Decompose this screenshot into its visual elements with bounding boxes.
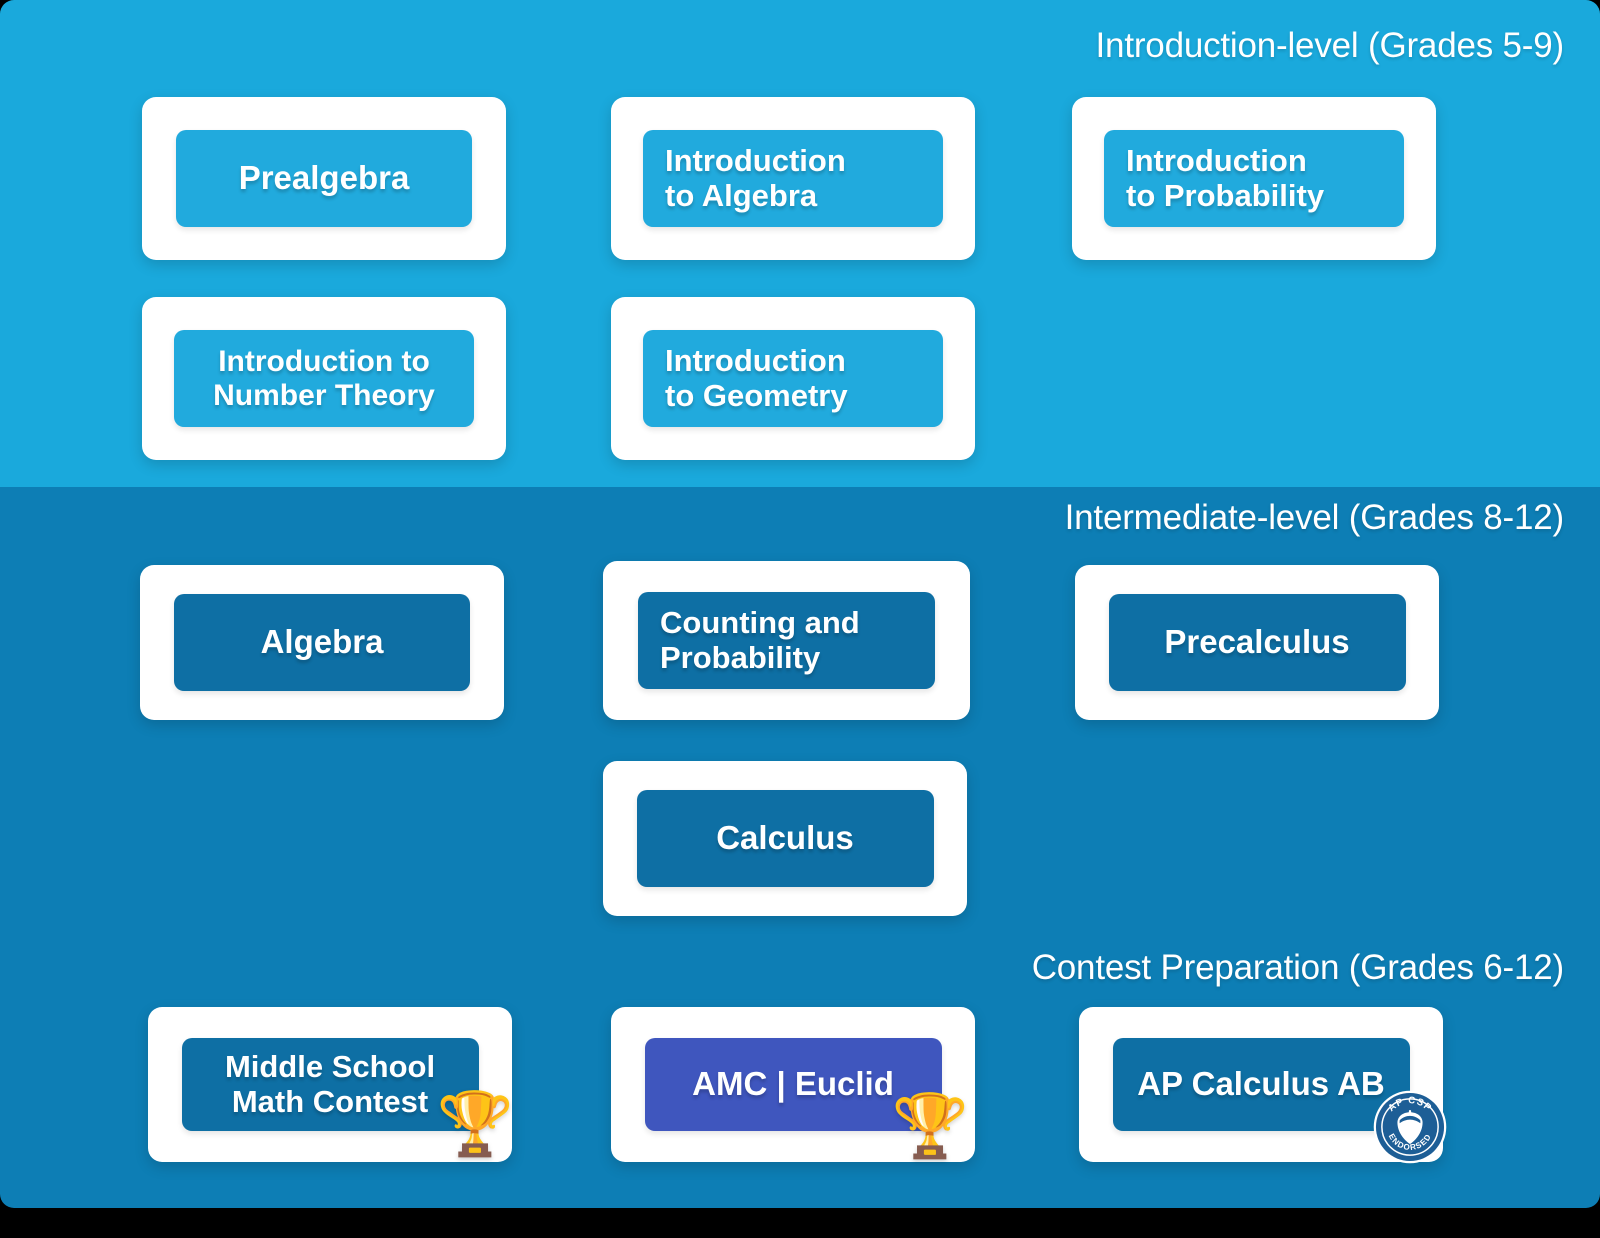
course-label-line2: Probability: [660, 641, 820, 676]
course-label-line1: Introduction: [665, 344, 846, 379]
course-label: AP Calculus AB: [1137, 1066, 1385, 1103]
course-label-line1: Introduction: [665, 144, 846, 179]
course-label: Prealgebra: [239, 160, 410, 197]
course-label-line2: Number Theory: [213, 379, 435, 413]
course-pill-introduction-to-geometry[interactable]: Introduction to Geometry: [643, 330, 943, 427]
course-label-line2: to Algebra: [665, 179, 817, 214]
course-label-line1: Counting and: [660, 606, 860, 641]
course-card-middle-school-math-contest[interactable]: Middle School Math Contest 🏆: [148, 1007, 512, 1162]
course-label: Calculus: [716, 820, 854, 857]
course-label-line2: to Geometry: [665, 379, 848, 414]
course-label-line1: Middle School: [225, 1050, 435, 1085]
course-label-line2: Math Contest: [232, 1085, 428, 1120]
course-pill-ap-calculus-ab[interactable]: AP Calculus AB: [1113, 1038, 1410, 1131]
course-label: Algebra: [261, 624, 384, 661]
course-pill-middle-school-math-contest[interactable]: Middle School Math Contest: [182, 1038, 479, 1131]
course-pill-counting-and-probability[interactable]: Counting and Probability: [638, 592, 935, 689]
course-label-line1: Introduction: [1126, 144, 1307, 179]
course-label-line1: Introduction to: [218, 345, 430, 379]
course-pill-introduction-to-probability[interactable]: Introduction to Probability: [1104, 130, 1404, 227]
introduction-level-heading: Introduction-level (Grades 5-9): [1096, 26, 1564, 66]
course-card-introduction-to-algebra[interactable]: Introduction to Algebra: [611, 97, 975, 260]
course-pill-calculus[interactable]: Calculus: [637, 790, 934, 887]
course-label: Precalculus: [1164, 624, 1349, 661]
course-label: AMC | Euclid: [692, 1066, 894, 1103]
course-card-ap-calculus-ab[interactable]: AP Calculus AB AP CSP ENDORSED: [1079, 1007, 1443, 1162]
course-card-introduction-to-number-theory[interactable]: Introduction to Number Theory: [142, 297, 506, 460]
course-pill-prealgebra[interactable]: Prealgebra: [176, 130, 472, 227]
badge-bottom-text: ENDORSED: [1387, 1132, 1433, 1152]
course-pill-precalculus[interactable]: Precalculus: [1109, 594, 1406, 691]
course-card-amc-euclid[interactable]: AMC | Euclid 🏆: [611, 1007, 975, 1162]
contest-preparation-heading: Contest Preparation (Grades 6-12): [1032, 948, 1564, 988]
course-pill-algebra[interactable]: Algebra: [174, 594, 470, 691]
course-card-prealgebra[interactable]: Prealgebra: [142, 97, 506, 260]
course-pill-amc-euclid[interactable]: AMC | Euclid: [645, 1038, 942, 1131]
course-card-counting-and-probability[interactable]: Counting and Probability: [603, 561, 970, 720]
course-pill-introduction-to-algebra[interactable]: Introduction to Algebra: [643, 130, 943, 227]
svg-text:ENDORSED: ENDORSED: [1387, 1132, 1433, 1152]
course-card-precalculus[interactable]: Precalculus: [1075, 565, 1439, 720]
course-card-calculus[interactable]: Calculus: [603, 761, 967, 916]
intermediate-level-heading: Intermediate-level (Grades 8-12): [1065, 498, 1564, 538]
course-label-line2: to Probability: [1126, 179, 1324, 214]
course-card-introduction-to-probability[interactable]: Introduction to Probability: [1072, 97, 1436, 260]
course-card-introduction-to-geometry[interactable]: Introduction to Geometry: [611, 297, 975, 460]
course-pill-introduction-to-number-theory[interactable]: Introduction to Number Theory: [174, 330, 474, 427]
curriculum-frame: Introduction-level (Grades 5-9) Prealgeb…: [0, 0, 1600, 1208]
course-card-algebra[interactable]: Algebra: [140, 565, 504, 720]
